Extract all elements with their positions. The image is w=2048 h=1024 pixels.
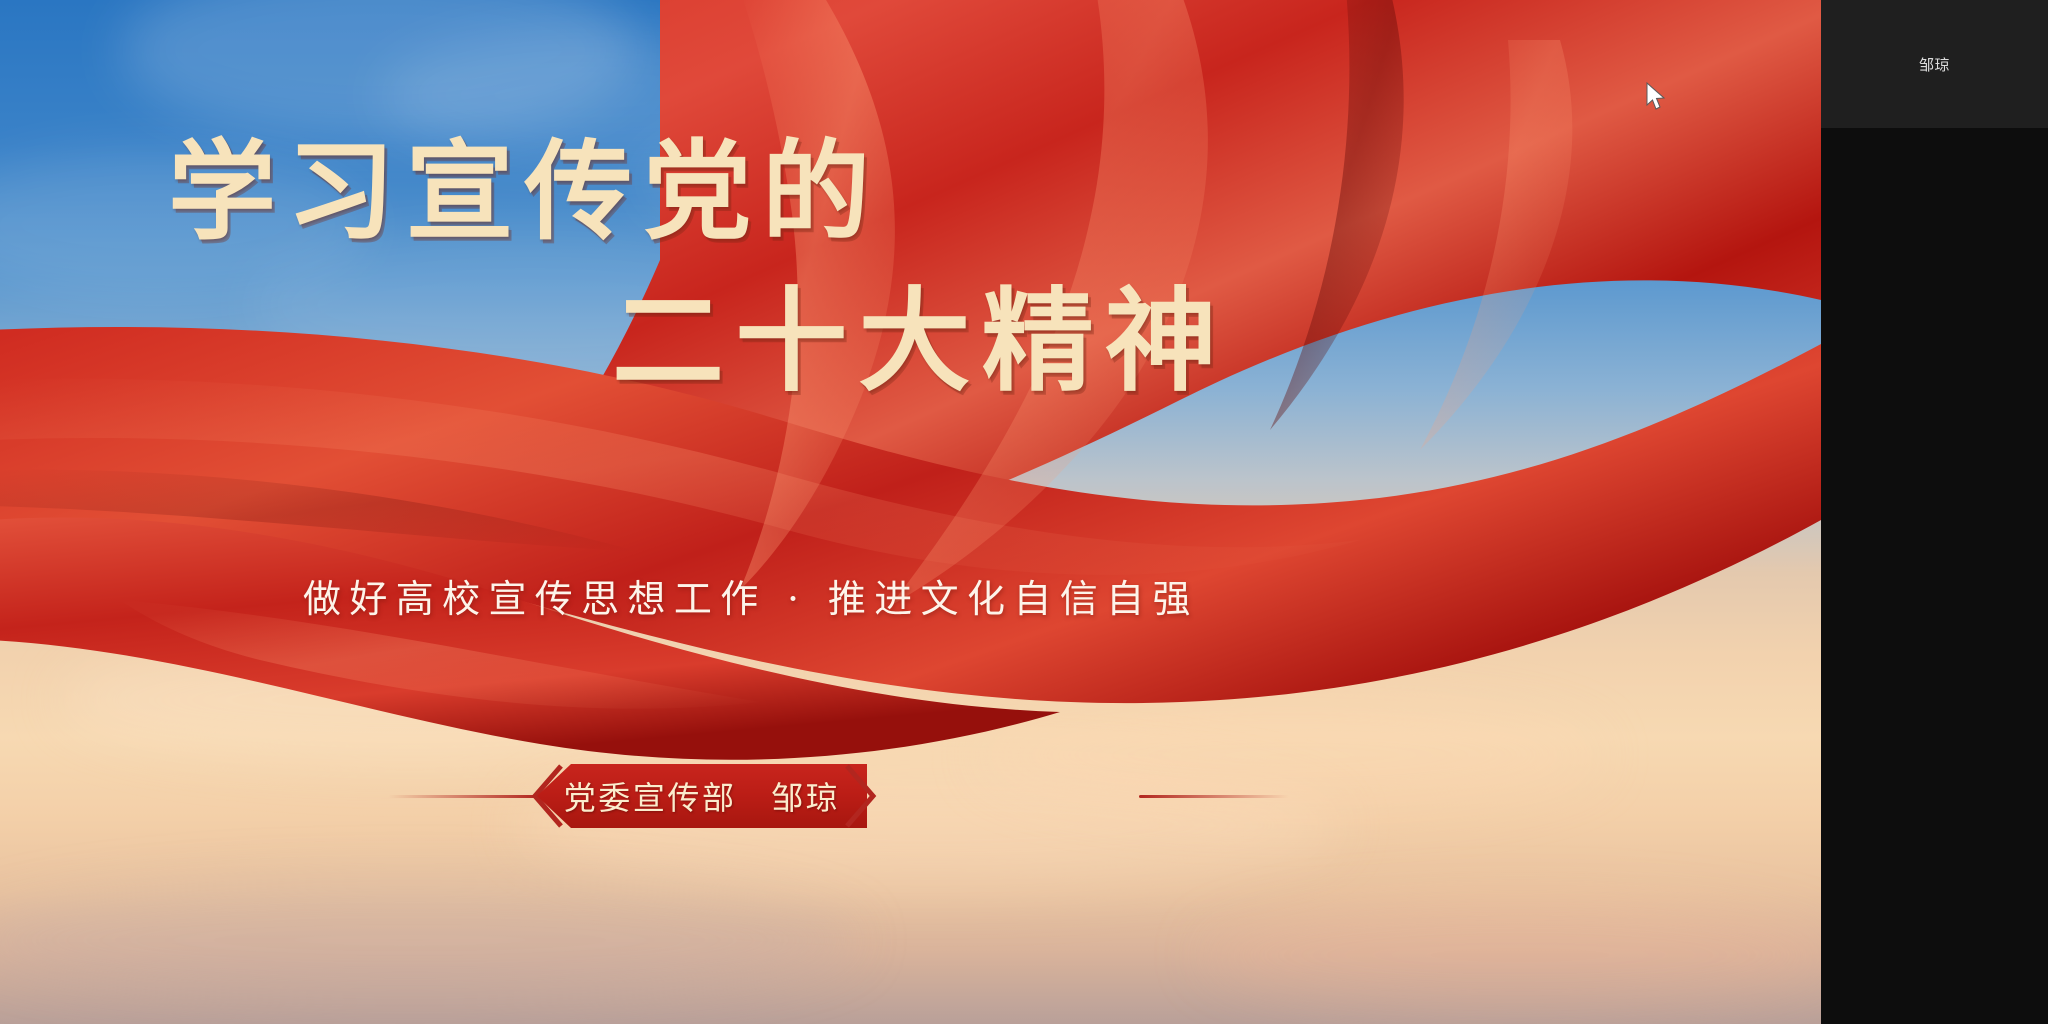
presenter-badge-label: 党委宣传部 邹琼 [537, 764, 867, 828]
slide-subtitle: 做好高校宣传思想工作 · 推进文化自信自强 [303, 568, 1199, 623]
participant-tile[interactable]: 邹琼 [1821, 0, 2048, 128]
screen-root: 学习宣传党的 二十大精神 做好高校宣传思想工作 · 推进文化自信自强 党委宣传部… [0, 0, 2048, 1024]
divider-rule-left [388, 795, 538, 798]
shared-slide-stage[interactable]: 学习宣传党的 二十大精神 做好高校宣传思想工作 · 推进文化自信自强 党委宣传部… [0, 0, 1821, 1024]
participant-name: 邹琼 [1919, 54, 1950, 75]
presenter-badge-row: 党委宣传部 邹琼 [0, 754, 1821, 840]
slide-title-line-2: 二十大精神 [612, 278, 1228, 407]
participant-panel-empty-area [1821, 128, 2048, 1024]
divider-rule-right [1139, 795, 1289, 798]
slide-content: 学习宣传党的 二十大精神 做好高校宣传思想工作 · 推进文化自信自强 党委宣传部… [0, 0, 1821, 1024]
slide-title-line-1: 学习宣传党的 [168, 130, 881, 254]
participant-panel: 邹琼 [1821, 0, 2048, 1024]
